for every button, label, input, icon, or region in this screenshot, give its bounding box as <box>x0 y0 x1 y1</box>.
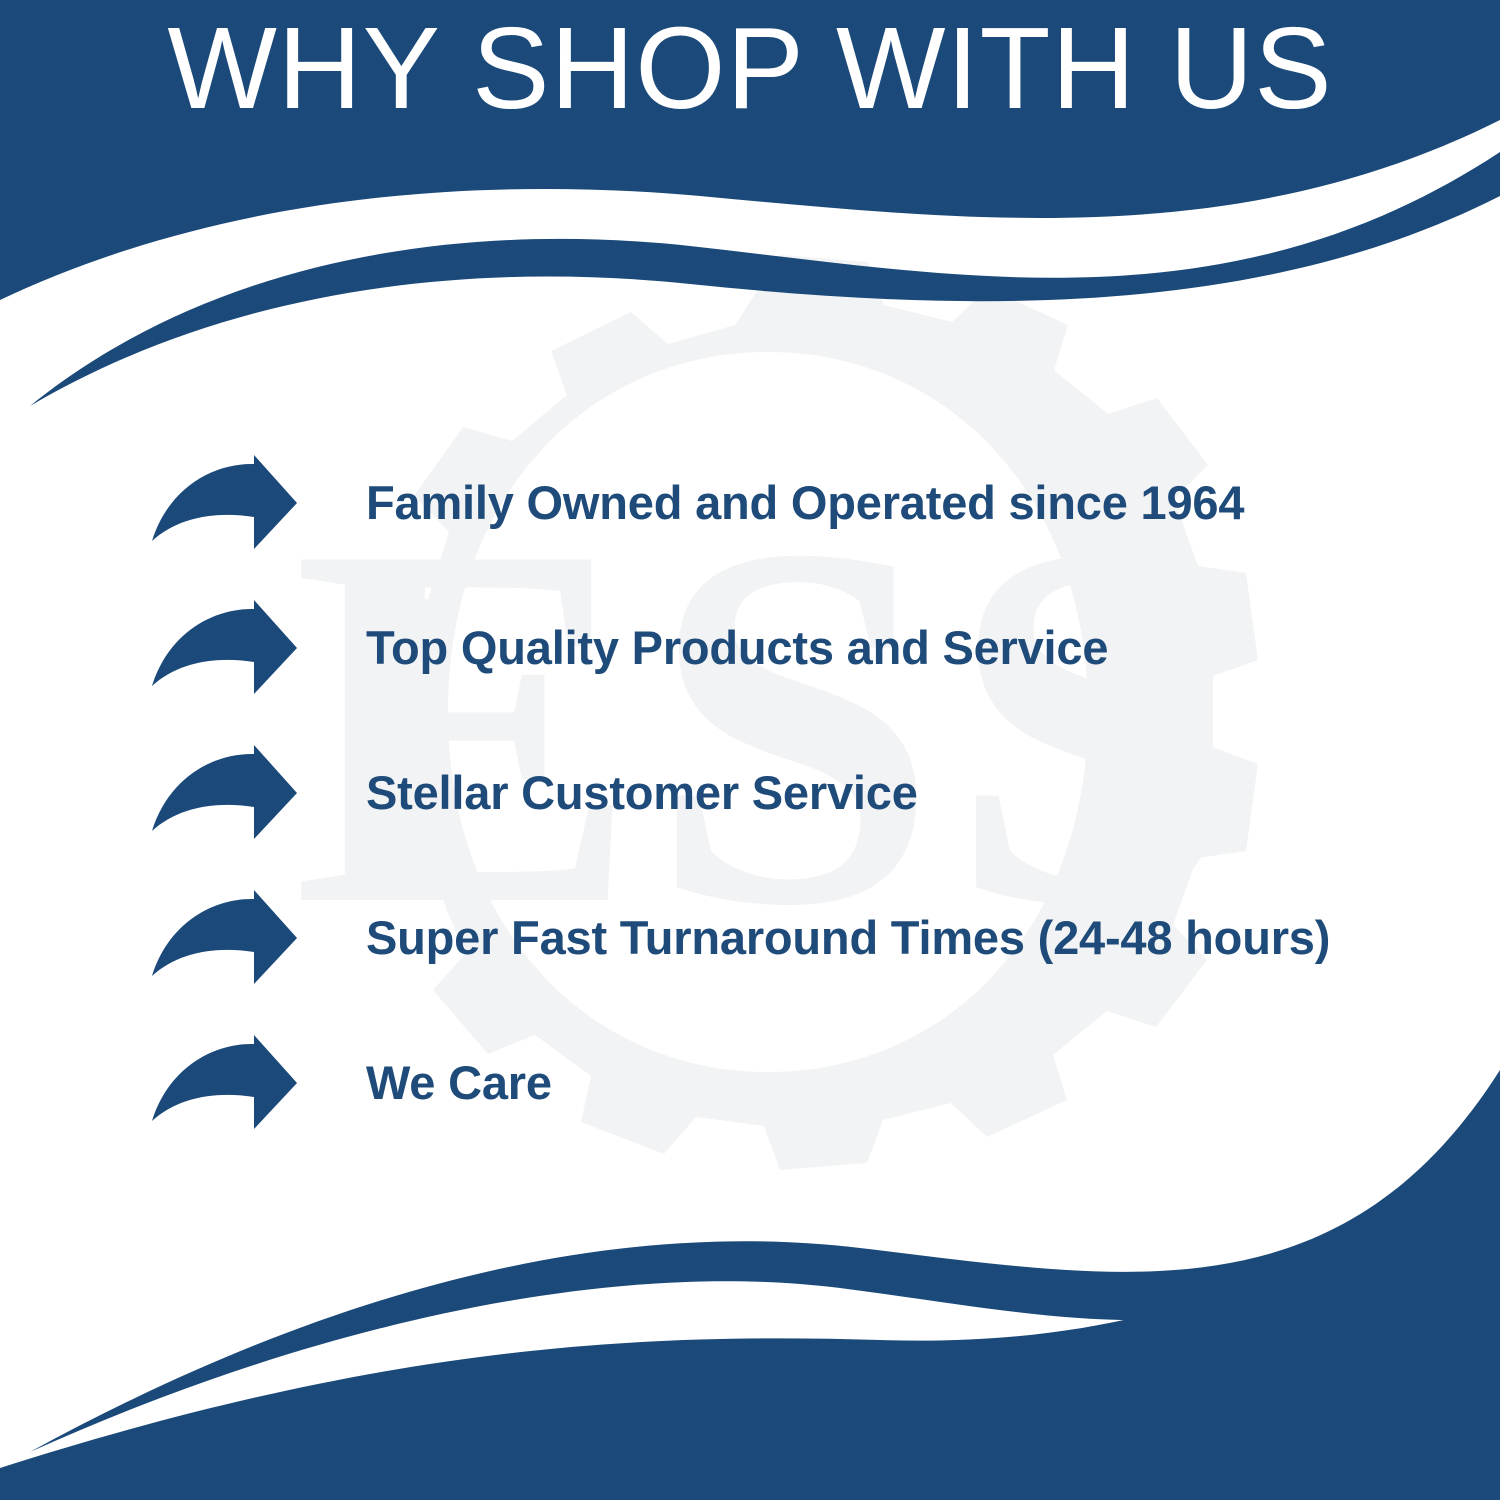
list-item: We Care <box>150 1010 1440 1155</box>
curved-arrow-right-icon <box>150 745 298 841</box>
page-title: WHY SHOP WITH US <box>0 8 1500 130</box>
list-item: Stellar Customer Service <box>150 720 1440 865</box>
list-item: Top Quality Products and Service <box>150 575 1440 720</box>
curved-arrow-right-icon <box>150 455 298 551</box>
curved-arrow-right-icon <box>150 600 298 696</box>
list-item-label: Stellar Customer Service <box>366 767 1440 819</box>
why-shop-with-us-poster: ESS WHY SHOP WITH US Family Owned and Op… <box>0 0 1500 1500</box>
list-item-label: Super Fast Turnaround Times (24-48 hours… <box>366 912 1440 964</box>
curved-arrow-right-icon <box>150 890 298 986</box>
list-item: Super Fast Turnaround Times (24-48 hours… <box>150 865 1440 1010</box>
list-item-label: Top Quality Products and Service <box>366 622 1440 674</box>
curved-arrow-right-icon <box>150 1035 298 1131</box>
list-item-label: We Care <box>366 1057 1440 1109</box>
benefits-list: Family Owned and Operated since 1964 Top… <box>150 430 1440 1155</box>
list-item-label: Family Owned and Operated since 1964 <box>366 477 1440 529</box>
list-item: Family Owned and Operated since 1964 <box>150 430 1440 575</box>
